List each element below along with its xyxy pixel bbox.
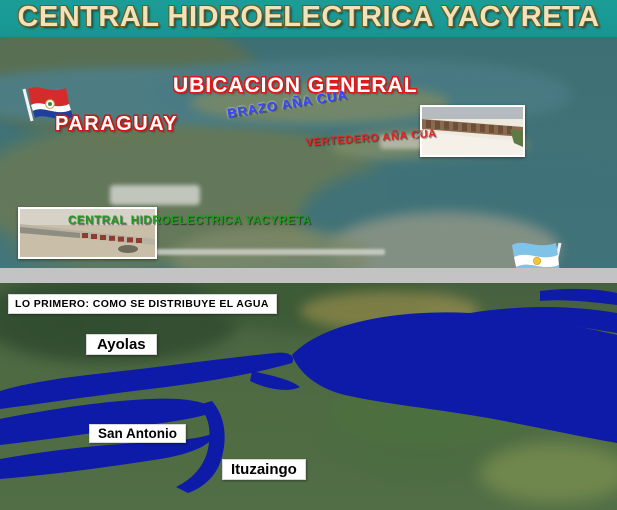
label-central-hidroelectrica: CENTRAL HIDROELECTRICA YACYRETA (68, 215, 311, 227)
bottom-satellite-map: AÑA CUA SAN JOSE MI PRINCIPAL EMBALSE VB… (0, 283, 617, 510)
top-satellite-map: UBICACION GENERAL PARAGUAY BRAZO AÑA CUA… (0, 37, 617, 268)
page-title: CENTRAL HIDROELECTRICA YACYRETA (0, 1, 617, 34)
dam-structure-shape (110, 185, 200, 205)
panel-divider (0, 268, 617, 283)
argentina-flag-svg (508, 235, 570, 268)
argentina-flag (508, 235, 570, 268)
spillway-photo-svg (422, 107, 523, 155)
water-bodies (0, 283, 617, 510)
city-label-ayolas: Ayolas (86, 334, 157, 355)
city-label-san-antonio: San Antonio (89, 424, 186, 443)
caption-lo-primero: LO PRIMERO: COMO SE DISTRIBUYE EL AGUA (8, 294, 277, 314)
label-paraguay: PARAGUAY (55, 113, 178, 136)
slide-root: CENTRAL HIDROELECTRICA YACYRETA (0, 0, 617, 510)
dam-crest-shape (155, 249, 385, 255)
title-band: CENTRAL HIDROELECTRICA YACYRETA (0, 0, 617, 37)
city-label-ituzaingo: Ituzaingo (222, 459, 306, 480)
